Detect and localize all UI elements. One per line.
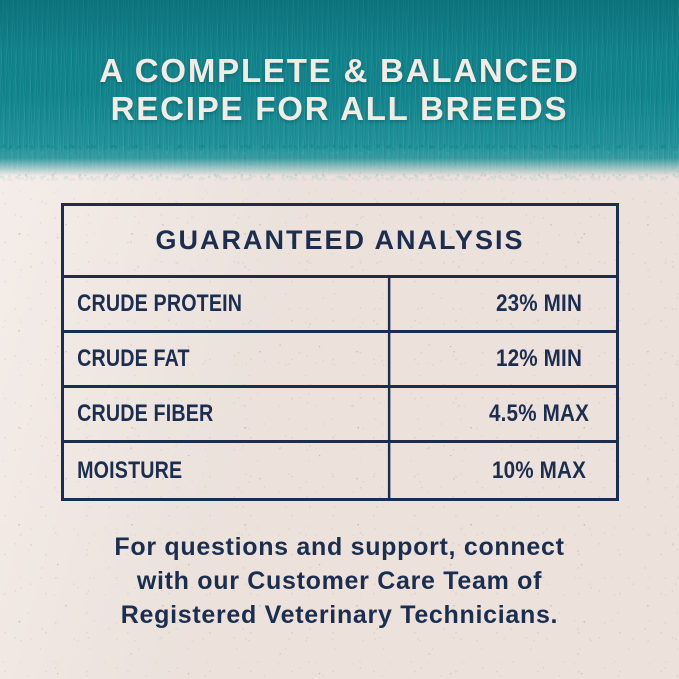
table-row: CRUDE FIBER 4.5% MAX xyxy=(64,388,616,443)
nutrient-name: CRUDE PROTEIN xyxy=(64,278,390,330)
product-label-panel: A COMPLETE & BALANCED RECIPE FOR ALL BRE… xyxy=(0,0,679,679)
nutrient-name: MOISTURE xyxy=(64,443,390,498)
nutrient-name: CRUDE FIBER xyxy=(64,388,390,440)
table-title: GUARANTEED ANALYSIS xyxy=(64,206,616,278)
table-row: MOISTURE 10% MAX xyxy=(64,443,616,498)
nutrient-value: 23% MIN xyxy=(473,278,605,330)
table-row: CRUDE PROTEIN 23% MIN xyxy=(64,278,616,333)
nutrient-value: 12% MIN xyxy=(473,333,605,385)
headline: A COMPLETE & BALANCED RECIPE FOR ALL BRE… xyxy=(0,52,679,128)
nutrient-value: 10% MAX xyxy=(473,443,605,498)
customer-care-note: For questions and support, connect with … xyxy=(50,530,629,632)
teal-header-band: A COMPLETE & BALANCED RECIPE FOR ALL BRE… xyxy=(0,0,679,186)
nutrient-name: CRUDE FAT xyxy=(64,333,390,385)
guaranteed-analysis-table: GUARANTEED ANALYSIS CRUDE PROTEIN 23% MI… xyxy=(61,203,619,501)
nutrient-value: 4.5% MAX xyxy=(473,388,605,440)
table-row: CRUDE FAT 12% MIN xyxy=(64,333,616,388)
